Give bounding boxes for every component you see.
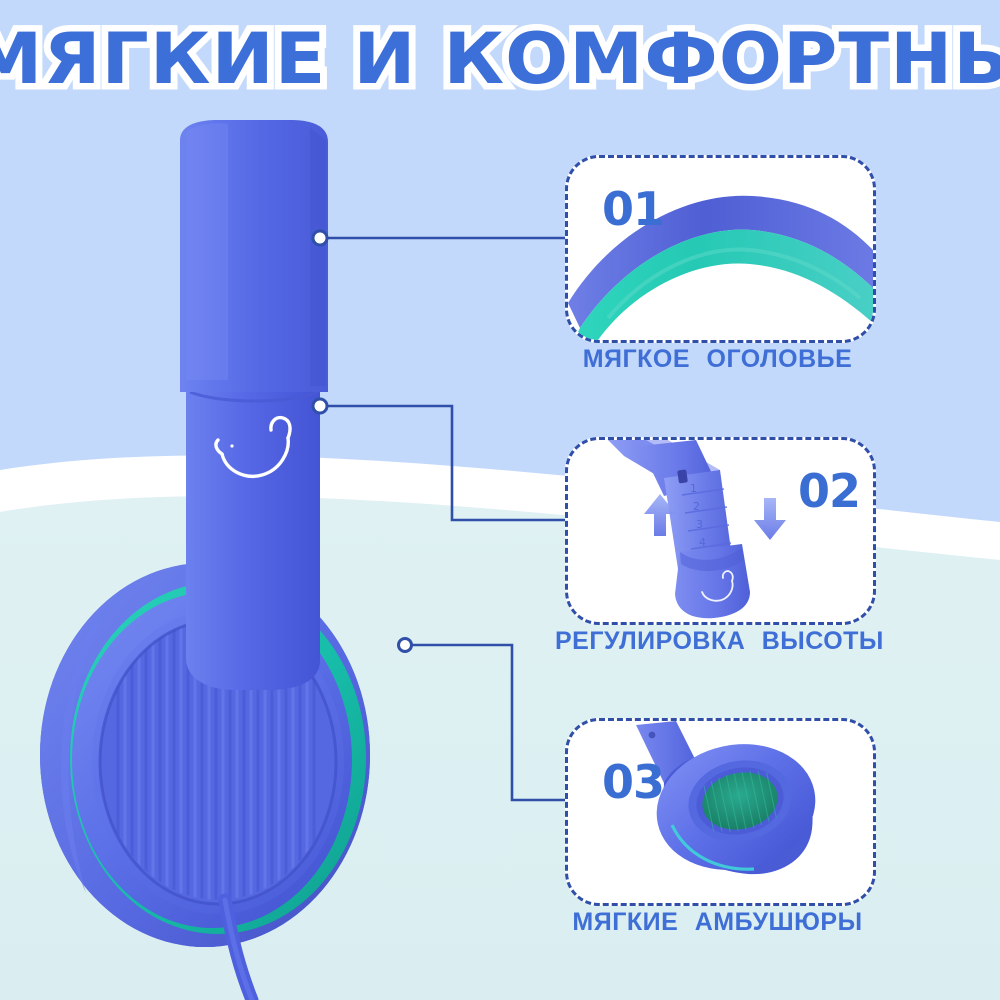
soft-earcup-pad-icon (568, 721, 873, 903)
callout-number-02: 02 (798, 464, 860, 518)
callout-panel-03[interactable]: 03 (565, 718, 876, 906)
slider-mark-4: 4 (699, 536, 706, 549)
callout-panel-02[interactable]: 1 2 3 4 5 02 (565, 437, 876, 625)
callout-number-01: 01 (602, 182, 664, 236)
slider-mark-2: 2 (693, 500, 700, 513)
title-container: МЯГКИЕ И КОМФОРТНЫЕ (0, 22, 1000, 98)
callout-caption-03: МЯГКИЕ АМБУШЮРЫ (565, 908, 870, 937)
slider-mark-1: 1 (690, 482, 697, 495)
callout-number-03: 03 (602, 755, 664, 809)
page-title: МЯГКИЕ И КОМФОРТНЫЕ (0, 22, 1000, 98)
slider-mark-3: 3 (696, 518, 703, 531)
callout-panel-01[interactable]: 01 (565, 155, 876, 343)
headband-lower-arm (186, 385, 320, 690)
product-headphones (0, 0, 560, 1000)
callout-caption-01: МЯГКОЕ ОГОЛОВЬЕ (565, 345, 870, 374)
callout-caption-02: РЕГУЛИРОВКА ВЫСОТЫ (555, 627, 880, 656)
infographic-canvas: МЯГКИЕ И КОМФОРТНЫЕ (0, 0, 1000, 1000)
arrow-down-icon (754, 498, 786, 540)
